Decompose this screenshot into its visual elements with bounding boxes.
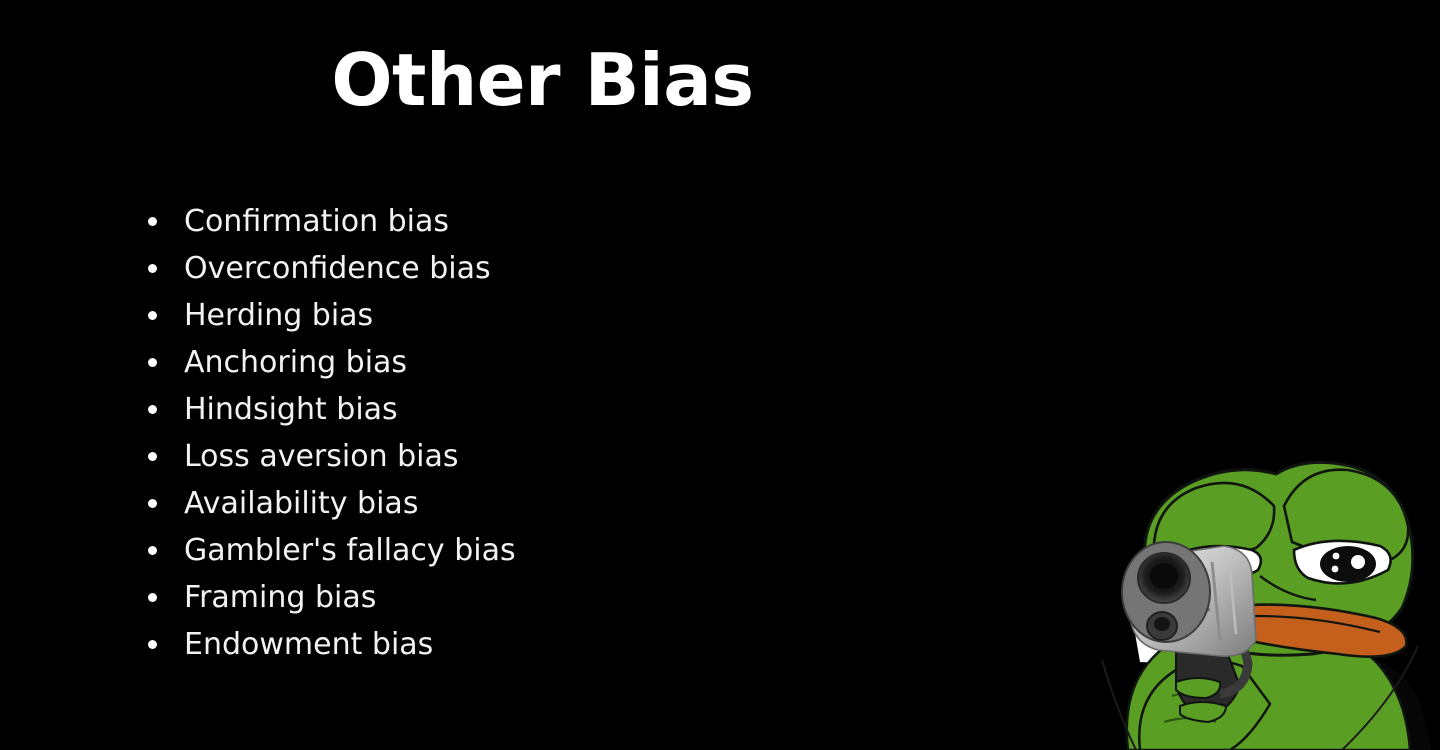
bias-bullet-list: Confirmation bias Overconfidence bias He… <box>148 198 516 668</box>
bullet-dot-icon <box>148 358 157 367</box>
bullet-dot-icon <box>148 499 157 508</box>
slide-canvas: Other Bias Confirmation bias Overconfide… <box>0 0 1440 750</box>
list-item-label: Loss aversion bias <box>184 433 459 480</box>
collar-flash-left <box>1132 616 1180 664</box>
tuxedo-lapel-left <box>1230 688 1266 750</box>
frog-eye-highlight-right-1 <box>1351 555 1365 569</box>
bullet-dot-icon <box>148 217 157 226</box>
frog-pupil-right <box>1320 546 1376 582</box>
list-item: Framing bias <box>148 574 516 621</box>
frog-mouth <box>1194 605 1406 657</box>
list-item: Herding bias <box>148 292 516 339</box>
frog-eyelid-right <box>1284 470 1408 560</box>
frog-body <box>1127 622 1410 750</box>
bullet-dot-icon <box>148 546 157 555</box>
shirt-button <box>1287 707 1292 712</box>
pistol-slide-line-2 <box>1230 570 1236 634</box>
background-contour-left <box>1102 660 1136 750</box>
list-item-label: Endowment bias <box>184 621 433 668</box>
pepe-frog-illustration <box>1080 450 1440 750</box>
frog-eye-highlight-left-2 <box>1204 555 1211 562</box>
frog-pupil-left <box>1192 548 1248 584</box>
list-item-label: Hindsight bias <box>184 386 398 433</box>
pistol-ejection-port <box>1190 586 1208 595</box>
pistol-guide-rod-inner <box>1154 617 1170 631</box>
bullet-dot-icon <box>148 640 157 649</box>
list-item: Loss aversion bias <box>148 433 516 480</box>
frog-eye-highlight-right-3 <box>1332 566 1339 573</box>
meme-backdrop <box>1080 450 1440 750</box>
frog-eye-highlight-left-3 <box>1203 568 1210 575</box>
pistol-barrel-bore <box>1138 553 1190 603</box>
collar-flash-right <box>1328 672 1356 718</box>
bullet-dot-icon <box>148 264 157 273</box>
list-item-label: Overconfidence bias <box>184 245 491 292</box>
list-item: Availability bias <box>148 480 516 527</box>
frog-eyelid-left <box>1154 483 1275 561</box>
frog-jaw-line <box>1236 596 1296 630</box>
arm-crease-2 <box>1164 718 1216 722</box>
background-contour-right <box>1342 646 1418 750</box>
pistol-muzzle-face <box>1122 542 1210 642</box>
list-item-label: Framing bias <box>184 574 376 621</box>
bullet-dot-icon <box>148 311 157 320</box>
list-item-label: Herding bias <box>184 292 373 339</box>
bullet-dot-icon <box>148 405 157 414</box>
pistol-guide-rod-port <box>1147 612 1177 640</box>
list-item-label: Availability bias <box>184 480 418 527</box>
list-item: Confirmation bias <box>148 198 516 245</box>
pistol-grip <box>1176 634 1240 716</box>
list-item: Hindsight bias <box>148 386 516 433</box>
frog-eye-highlight-left-1 <box>1221 557 1235 571</box>
bullet-dot-icon <box>148 593 157 602</box>
frog-finger-2 <box>1180 702 1226 722</box>
pistol-slide <box>1130 546 1256 656</box>
frog-eye-left <box>1162 546 1261 585</box>
list-item: Gambler's fallacy bias <box>148 527 516 574</box>
list-item: Anchoring bias <box>148 339 516 386</box>
frog-head <box>1144 462 1412 655</box>
frog-lip-line <box>1202 616 1380 632</box>
frog-nostril <box>1188 580 1191 596</box>
tuxedo-lapel-right <box>1312 686 1352 750</box>
list-item: Endowment bias <box>148 621 516 668</box>
frog-cheek-line <box>1260 576 1316 600</box>
frog-eye-highlight-right-2 <box>1333 553 1340 560</box>
list-item-label: Anchoring bias <box>184 339 407 386</box>
page-title: Other Bias <box>0 44 1085 116</box>
list-item: Overconfidence bias <box>148 245 516 292</box>
pistol-frame-groove <box>1186 606 1210 610</box>
bullet-dot-icon <box>148 452 157 461</box>
list-item-label: Gambler's fallacy bias <box>184 527 516 574</box>
frog-arm <box>1139 661 1270 750</box>
frog-finger-1 <box>1176 678 1220 698</box>
pistol-trigger-guard <box>1204 636 1248 694</box>
pistol-slide-line-1 <box>1212 562 1220 640</box>
tuxedo-jacket <box>1130 646 1432 750</box>
pepe-frog-tuxedo-pistol-image <box>1080 450 1440 750</box>
pistol-bore-inner <box>1150 563 1178 589</box>
arm-crease-1 <box>1172 691 1222 696</box>
list-item-label: Confirmation bias <box>184 198 449 245</box>
tuxedo-shirt <box>1252 682 1328 750</box>
frog-eye-right <box>1294 541 1391 584</box>
